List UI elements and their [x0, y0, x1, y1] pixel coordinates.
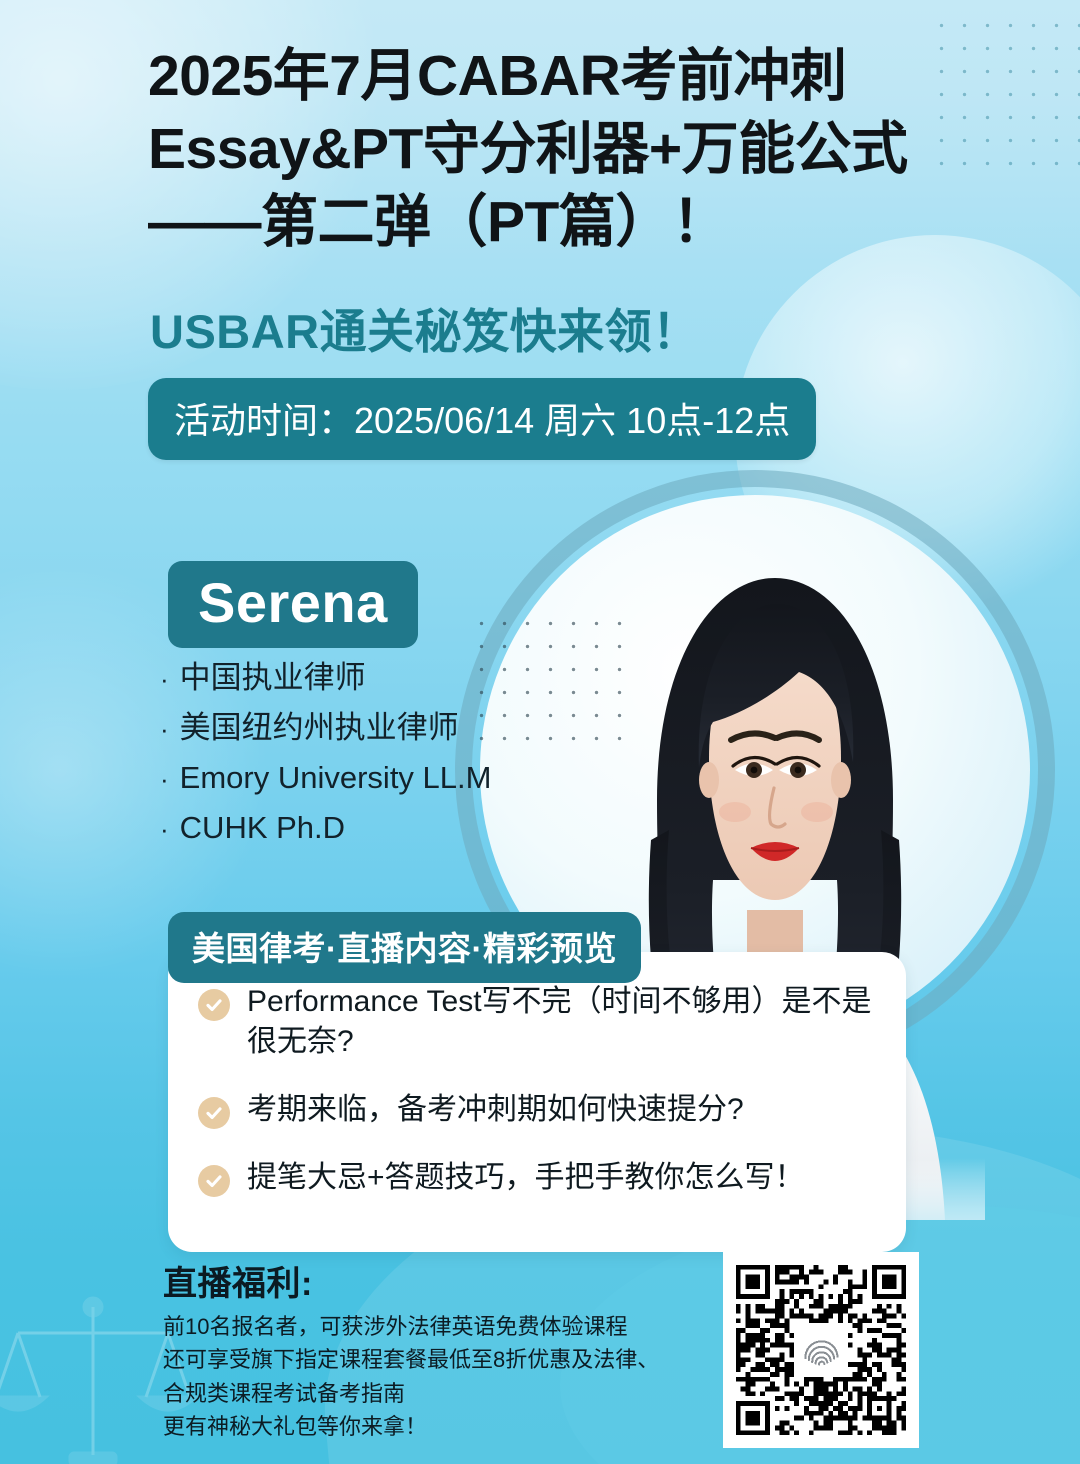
list-item: · CUHK Ph.D [160, 812, 580, 843]
speaker-credentials-list: · 中国执业律师 · 美国纽约州执业律师 · Emory University … [160, 662, 580, 862]
subheadline: USBAR通关秘笈快来领！ [150, 293, 700, 362]
bonus-line: 更有神秘大礼包等你来拿！ [163, 1410, 693, 1443]
preview-item-label: 考期来临，备考冲刺期如何快速提分? [247, 1090, 744, 1130]
credential-label: CUHK Ph.D [180, 812, 345, 843]
page-title: 2025年7月CABAR考前冲刺 Essay&PT守分利器+万能公式 ——第二弹… [148, 40, 968, 259]
bullet-icon: · [160, 766, 169, 792]
headline-line-3: ——第二弹（PT篇）！ [148, 186, 968, 259]
list-item: Performance Test写不完（时间不够用）是不是很无奈? [198, 982, 888, 1062]
speaker-name-badge: Serena [168, 561, 418, 648]
list-item: · 美国纽约州执业律师 [160, 712, 580, 743]
list-item: · Emory University LL.M [160, 762, 580, 793]
headline-line-2: Essay&PT守分利器+万能公式 [148, 113, 968, 186]
preview-items-list: Performance Test写不完（时间不够用）是不是很无奈? 考期来临，备… [198, 982, 888, 1226]
bonus-line: 合规类课程考试备考指南 [163, 1377, 693, 1410]
preview-item-label: 提笔大忌+答题技巧，手把手教你怎么写！ [247, 1158, 805, 1198]
bullet-icon: · [160, 666, 169, 692]
list-item: · 中国执业律师 [160, 662, 580, 693]
headline-line-1: 2025年7月CABAR考前冲刺 [148, 40, 968, 113]
list-item: 考期来临，备考冲刺期如何快速提分? [198, 1090, 888, 1130]
credential-label: 美国纽约州执业律师 [180, 712, 459, 743]
check-icon [198, 989, 230, 1021]
check-icon [198, 1097, 230, 1129]
poster-root: 2025年7月CABAR考前冲刺 Essay&PT守分利器+万能公式 ——第二弹… [0, 0, 1080, 1464]
list-item: 提笔大忌+答题技巧，手把手教你怎么写！ [198, 1158, 888, 1198]
bonus-line: 还可享受旗下指定课程套餐最低至8折优惠及法律、 [163, 1343, 693, 1376]
bullet-icon: · [160, 716, 169, 742]
check-icon [198, 1165, 230, 1197]
bonus-line: 前10名报名者，可获涉外法律英语免费体验课程 [163, 1310, 693, 1343]
credential-label: Emory University LL.M [180, 762, 492, 793]
qr-code[interactable] [723, 1252, 919, 1448]
preview-title-badge: 美国律考·直播内容·精彩预览 [168, 912, 641, 983]
bonus-title: 直播福利: [163, 1256, 313, 1305]
bonus-text-block: 前10名报名者，可获涉外法律英语免费体验课程 还可享受旗下指定课程套餐最低至8折… [163, 1310, 693, 1444]
fingerprint-icon [799, 1328, 843, 1372]
bullet-icon: · [160, 816, 169, 842]
credential-label: 中国执业律师 [180, 662, 366, 693]
event-time-badge: 活动时间：2025/06/14 周六 10点-12点 [148, 378, 816, 460]
preview-item-label: Performance Test写不完（时间不够用）是不是很无奈? [247, 982, 888, 1062]
